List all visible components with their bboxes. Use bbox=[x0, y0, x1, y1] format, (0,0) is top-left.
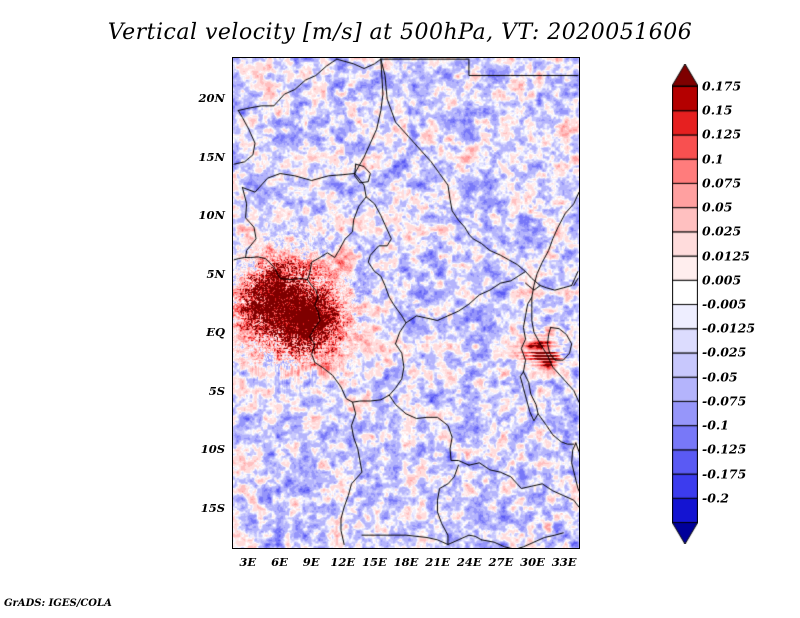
colorbar-label-16: -0.175 bbox=[702, 466, 746, 481]
colorbar-label-5: 0.05 bbox=[702, 200, 732, 215]
colorbar-label-3: 0.1 bbox=[702, 151, 724, 166]
y-tick-5S: 5S bbox=[185, 384, 225, 398]
colorbar-label-10: -0.0125 bbox=[702, 321, 755, 336]
x-tick-24E: 24E bbox=[454, 555, 484, 569]
y-tick-10S: 10S bbox=[185, 442, 225, 456]
vertical-velocity-heatmap bbox=[233, 58, 579, 548]
colorbar-label-9: -0.005 bbox=[702, 297, 746, 312]
x-tick-12E: 12E bbox=[328, 555, 358, 569]
y-tick-EQ: EQ bbox=[185, 325, 225, 339]
x-tick-6E: 6E bbox=[264, 555, 294, 569]
x-tick-3E: 3E bbox=[233, 555, 263, 569]
colorbar-label-7: 0.0125 bbox=[702, 248, 750, 263]
y-tick-15S: 15S bbox=[185, 501, 225, 515]
colorbar-label-8: 0.005 bbox=[702, 272, 741, 287]
x-tick-21E: 21E bbox=[423, 555, 453, 569]
colorbar-label-0: 0.175 bbox=[702, 79, 741, 94]
y-tick-5N: 5N bbox=[185, 267, 225, 281]
grads-credit: GrADS: IGES/COLA bbox=[4, 598, 112, 609]
colorbar-label-11: -0.025 bbox=[702, 345, 746, 360]
y-tick-15N: 15N bbox=[185, 150, 225, 164]
colorbar-label-15: -0.125 bbox=[702, 442, 746, 457]
colorbar-label-4: 0.075 bbox=[702, 175, 741, 190]
colorbar bbox=[672, 64, 698, 544]
map-plot-area bbox=[232, 57, 580, 549]
x-tick-9E: 9E bbox=[296, 555, 326, 569]
y-tick-10N: 10N bbox=[185, 208, 225, 222]
x-tick-15E: 15E bbox=[359, 555, 389, 569]
colorbar-label-1: 0.15 bbox=[702, 103, 732, 118]
x-tick-30E: 30E bbox=[518, 555, 548, 569]
page-title: Vertical velocity [m/s] at 500hPa, VT: 2… bbox=[0, 20, 800, 45]
x-tick-27E: 27E bbox=[486, 555, 516, 569]
colorbar-label-6: 0.025 bbox=[702, 224, 741, 239]
colorbar-label-12: -0.05 bbox=[702, 369, 738, 384]
colorbar-label-13: -0.075 bbox=[702, 393, 746, 408]
y-tick-20N: 20N bbox=[185, 91, 225, 105]
x-tick-18E: 18E bbox=[391, 555, 421, 569]
colorbar-label-17: -0.2 bbox=[702, 490, 729, 505]
colorbar-label-14: -0.1 bbox=[702, 418, 729, 433]
colorbar-label-2: 0.125 bbox=[702, 127, 741, 142]
x-tick-33E: 33E bbox=[549, 555, 579, 569]
